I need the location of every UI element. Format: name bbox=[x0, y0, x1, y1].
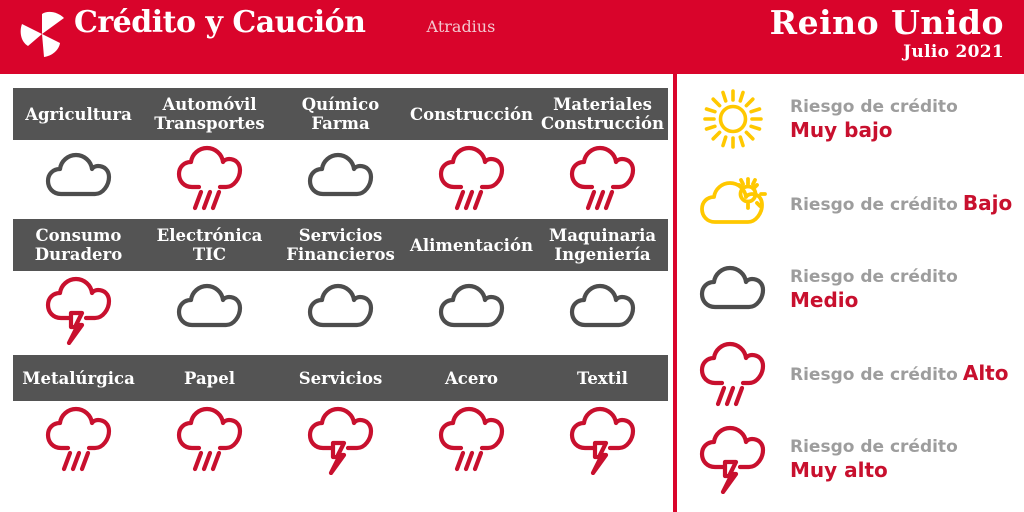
legend-label: Riesgo de crédito bbox=[790, 267, 958, 287]
sector-label: Construcción bbox=[406, 105, 537, 124]
sector-label: Alimentación bbox=[406, 236, 537, 255]
legend-item: Riesgo de crédito Bajo bbox=[690, 161, 1024, 246]
cloud-lightning-icon bbox=[537, 405, 668, 475]
cloud-rain-icon bbox=[537, 144, 668, 214]
sector-label-line1: Químico bbox=[302, 95, 379, 114]
cloud-rain-icon bbox=[13, 405, 144, 475]
sector-label: Consumo Duradero bbox=[13, 226, 144, 264]
legend-value: Bajo bbox=[963, 191, 1012, 215]
cloud-rain-icon bbox=[406, 405, 537, 475]
legend-value: Alto bbox=[963, 361, 1009, 385]
sector-label: Automóvil Transportes bbox=[144, 95, 275, 133]
sector-row: Agricultura Automóvil Transportes Químic… bbox=[13, 88, 668, 218]
sun-icon bbox=[690, 88, 776, 150]
brand-logo: Crédito y Caución Atradius bbox=[18, 6, 495, 58]
country-title: Reino Unido bbox=[770, 4, 1004, 42]
brand-sub: Atradius bbox=[427, 17, 496, 36]
sector-label-line2: Duradero bbox=[15, 245, 142, 264]
sector-label-line2: Ingeniería bbox=[539, 245, 666, 264]
sector-label-line1: Consumo bbox=[36, 226, 122, 245]
sector-row: Metalúrgica Papel Servicios Acero Textil bbox=[13, 355, 668, 479]
sector-label-line2: Transportes bbox=[146, 114, 273, 133]
risk-legend: Riesgo de crédito Muy bajo Riesgo de cré… bbox=[690, 76, 1024, 501]
sector-label: Metalúrgica bbox=[13, 369, 144, 388]
sector-label-line2: Construcción bbox=[539, 114, 666, 133]
cloud-rain-icon bbox=[690, 340, 776, 408]
country-block: Reino Unido Julio 2021 bbox=[770, 4, 1004, 62]
cloud-lightning-icon bbox=[690, 424, 776, 494]
cloud-icon bbox=[144, 282, 275, 338]
cloud-icon bbox=[275, 151, 406, 207]
sector-label-band: Metalúrgica Papel Servicios Acero Textil bbox=[13, 355, 668, 401]
sector-label: Maquinaria Ingeniería bbox=[537, 226, 668, 264]
sun-behind-cloud-icon bbox=[690, 174, 776, 234]
sector-label-line2: Farma bbox=[277, 114, 404, 133]
cloud-icon bbox=[537, 282, 668, 338]
legend-value: Muy bajo bbox=[790, 118, 893, 142]
sector-label: Papel bbox=[144, 369, 275, 388]
legend-label: Riesgo de crédito bbox=[790, 365, 958, 385]
sector-label-line1: Alimentación bbox=[410, 236, 533, 255]
sector-grid: Agricultura Automóvil Transportes Químic… bbox=[0, 74, 673, 512]
sector-row: Consumo Duradero Electrónica TIC Servici… bbox=[13, 219, 668, 349]
sector-label-band: Consumo Duradero Electrónica TIC Servici… bbox=[13, 219, 668, 271]
sector-icon-row bbox=[13, 140, 668, 218]
sector-label-line1: Electrónica bbox=[157, 226, 263, 245]
cloud-rain-icon bbox=[406, 144, 537, 214]
legend-label: Riesgo de crédito bbox=[790, 195, 958, 215]
sector-label-line1: Automóvil bbox=[162, 95, 256, 114]
brand-name: Crédito y Caución bbox=[74, 5, 365, 40]
legend-label: Riesgo de crédito bbox=[790, 97, 958, 117]
sector-icon-row bbox=[13, 271, 668, 349]
cloud-icon bbox=[13, 151, 144, 207]
legend-label: Riesgo de crédito bbox=[790, 437, 958, 457]
sector-label: Electrónica TIC bbox=[144, 226, 275, 264]
sector-label: Servicios bbox=[275, 369, 406, 388]
sector-label-line2: TIC bbox=[146, 245, 273, 264]
cloud-rain-icon bbox=[144, 405, 275, 475]
sector-label-line2: Financieros bbox=[277, 245, 404, 264]
report-date: Julio 2021 bbox=[770, 42, 1004, 62]
sector-label: Servicios Financieros bbox=[275, 226, 406, 264]
sector-label-band: Agricultura Automóvil Transportes Químic… bbox=[13, 88, 668, 140]
cloud-lightning-icon bbox=[275, 405, 406, 475]
sector-label: Textil bbox=[537, 369, 668, 388]
sector-label-line1: Servicios bbox=[299, 226, 383, 245]
legend-value: Medio bbox=[790, 288, 858, 312]
sector-label-line1: Maquinaria bbox=[549, 226, 656, 245]
sector-label: Materiales Construcción bbox=[537, 95, 668, 133]
sector-label-line1: Papel bbox=[184, 369, 235, 388]
page-header: Crédito y Caución Atradius Reino Unido J… bbox=[0, 0, 1024, 74]
sector-icon-row bbox=[13, 401, 668, 479]
sector-label-line1: Acero bbox=[445, 369, 498, 388]
legend-item: Riesgo de crédito Muy alto bbox=[690, 416, 1024, 501]
cloud-rain-icon bbox=[144, 144, 275, 214]
sector-label-line1: Servicios bbox=[299, 369, 383, 388]
cloud-icon bbox=[690, 264, 776, 314]
sector-label-line1: Agricultura bbox=[25, 105, 132, 124]
legend-value: Muy alto bbox=[790, 458, 888, 482]
legend-item: Riesgo de crédito Muy bajo bbox=[690, 76, 1024, 161]
sector-label: Acero bbox=[406, 369, 537, 388]
cloud-icon bbox=[406, 282, 537, 338]
cloud-icon bbox=[275, 282, 406, 338]
sector-label: Agricultura bbox=[13, 105, 144, 124]
sector-label-line1: Materiales bbox=[553, 95, 652, 114]
legend-item: Riesgo de crédito Medio bbox=[690, 246, 1024, 331]
atradius-propeller-logo-icon bbox=[18, 10, 66, 58]
sector-label: Químico Farma bbox=[275, 95, 406, 133]
cloud-lightning-icon bbox=[13, 275, 144, 345]
sector-label-line1: Construcción bbox=[410, 105, 533, 124]
legend-item: Riesgo de crédito Alto bbox=[690, 331, 1024, 416]
vertical-divider bbox=[673, 74, 677, 512]
sector-label-line1: Textil bbox=[577, 369, 628, 388]
sector-label-line1: Metalúrgica bbox=[22, 369, 135, 388]
